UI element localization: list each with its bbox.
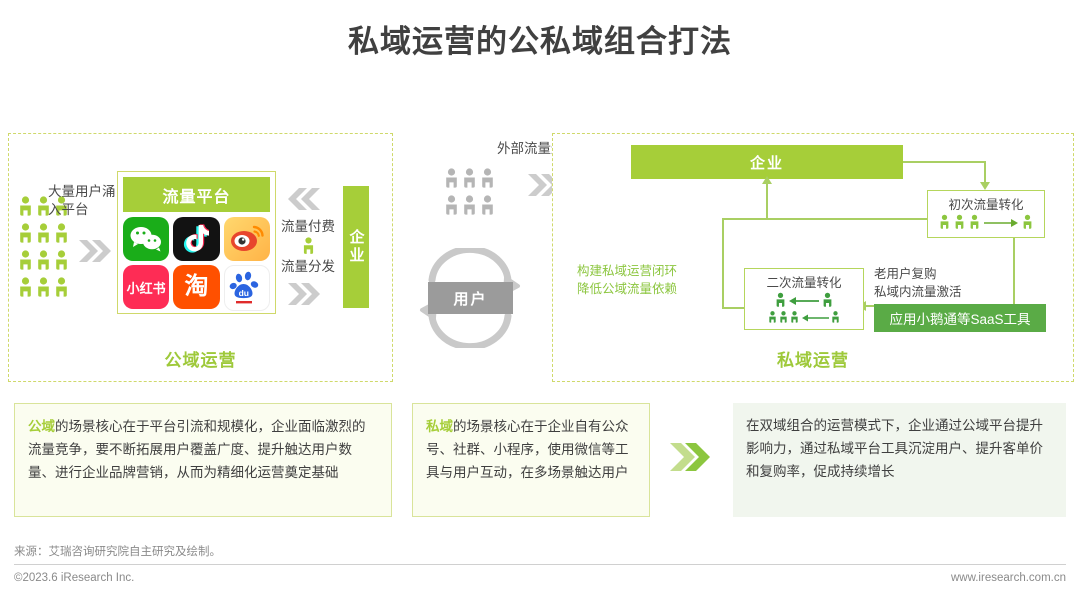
person-row <box>18 223 74 245</box>
traffic-platform-box: 流量平台 <box>117 171 276 314</box>
private-domain-description-box: 私域的场景核心在于企业自有公众号、社群、小程序，使用微信等工具与用户互动，在多场… <box>412 403 650 517</box>
person-icon <box>831 310 840 325</box>
website-link[interactable]: www.iresearch.com.cn <box>951 572 1066 584</box>
person-icon <box>18 223 33 245</box>
arrowhead-corp <box>762 176 772 184</box>
user-loop-diagram: 用户 <box>410 248 530 348</box>
xiaohongshu-label: 小红书 <box>127 278 166 297</box>
loop-note-line2: 降低公域流量依赖 <box>577 280 687 298</box>
loop-note: 构建私域运营闭环 降低公域流量依赖 <box>577 262 687 298</box>
connector-down-to-first <box>984 161 986 184</box>
person-icon <box>779 310 788 325</box>
connector-left-to-second <box>722 307 746 309</box>
person-icon <box>969 214 980 231</box>
private-domain-label: 私域运营 <box>553 346 1073 371</box>
person-row <box>444 195 498 217</box>
weibo-icon[interactable] <box>224 217 270 261</box>
connector-first-to-second <box>1013 238 1015 306</box>
public-domain-description: 的场景核心在于平台引流和规模化，企业面临激烈的流量竞争，要不断拓展用户覆盖广度、… <box>28 419 366 480</box>
person-icon <box>790 310 799 325</box>
pay-traffic-label: 流量付费 <box>277 218 339 236</box>
public-domain-description-box: 公域的场景核心在于平台引流和规模化，企业面临激烈的流量竞争，要不断拓展用户覆盖广… <box>14 403 392 517</box>
person-icon <box>36 223 51 245</box>
arrowhead-first-conv <box>980 182 990 190</box>
person-icon <box>54 277 69 299</box>
app-icon-grid: 小红书 淘 du <box>123 217 270 311</box>
connector-up-to-corp <box>766 182 768 218</box>
person-icon <box>768 310 777 325</box>
pay-arrow-icon <box>287 186 321 217</box>
person-icon <box>36 277 51 299</box>
public-domain-label: 公域运营 <box>9 346 392 371</box>
wechat-icon[interactable] <box>123 217 169 261</box>
first-conversion-title: 初次流量转化 <box>928 194 1044 213</box>
middle-users-group <box>444 168 498 222</box>
person-icon <box>1022 214 1033 231</box>
person-icon <box>444 195 459 217</box>
enterprise-label: 企业 <box>750 152 784 173</box>
person-icon <box>480 168 495 190</box>
combined-model-description: 在双域组合的运营模式下，企业通过公域平台提升影响力，通过私域平台工具沉淀用户、提… <box>746 418 1043 479</box>
person-icon <box>954 214 965 231</box>
footer-divider <box>14 564 1066 565</box>
second-conversion-box: 二次流量转化 <box>744 268 864 330</box>
person-row <box>18 277 74 299</box>
person-row <box>444 168 498 190</box>
second-conversion-title: 二次流量转化 <box>745 272 863 291</box>
person-icon <box>18 196 33 218</box>
infographic-page: 私域运营的公私域组合打法 公域运营 大量用户涌入平台 <box>0 0 1080 602</box>
person-icon <box>54 223 69 245</box>
person-icon <box>822 292 833 309</box>
public-domain-highlight: 公域 <box>28 419 55 434</box>
repeat-note-line2: 私域内流量激活 <box>874 283 982 301</box>
person-icon <box>480 195 495 217</box>
connector-first-left <box>722 218 928 220</box>
left-arrow-icon <box>789 296 819 306</box>
distribute-arrow-icon <box>287 281 321 312</box>
person-icon <box>18 277 33 299</box>
right-arrow-icon <box>984 218 1018 228</box>
page-title: 私域运营的公私域组合打法 <box>0 16 1080 61</box>
private-domain-description: 的场景核心在于企业自有公众号、社群、小程序，使用微信等工具与用户互动，在多场景触… <box>426 419 629 480</box>
saas-tool-button[interactable]: 应用小鹅通等SaaS工具 <box>874 304 1046 332</box>
inflow-arrow-icon <box>78 238 112 269</box>
traffic-platform-title: 流量平台 <box>123 177 270 212</box>
source-note: 来源：艾瑞咨询研究院自主研究及绘制。 <box>14 543 221 559</box>
douyin-icon[interactable] <box>173 217 219 261</box>
repeat-note-line1: 老用户复购 <box>874 265 982 283</box>
enterprise-bar-label: 企业 <box>346 229 367 265</box>
person-icon <box>939 214 950 231</box>
user-label: 用户 <box>453 288 487 309</box>
first-conversion-box: 初次流量转化 <box>927 190 1045 238</box>
person-icon <box>462 168 477 190</box>
saas-tool-label: 应用小鹅通等SaaS工具 <box>889 308 1030 328</box>
person-icon <box>444 168 459 190</box>
combined-model-description-box: 在双域组合的运营模式下，企业通过公域平台提升影响力，通过私域平台工具沉淀用户、提… <box>733 403 1066 517</box>
user-label-chip: 用户 <box>428 282 513 314</box>
distribute-traffic-label: 流量分发 <box>277 258 339 276</box>
taobao-label: 淘 <box>184 275 208 299</box>
person-icon <box>18 250 33 272</box>
enterprise-bar-private: 企业 <box>631 145 903 179</box>
left-arrow-icon <box>801 313 829 323</box>
person-icon <box>462 195 477 217</box>
loop-note-line1: 构建私域运营闭环 <box>577 262 687 280</box>
combination-arrow-icon <box>668 440 712 479</box>
repeat-purchase-note: 老用户复购 私域内流量激活 <box>874 265 982 301</box>
connector-left-vertical <box>722 218 724 308</box>
copyright-text: ©2023.6 iResearch Inc. <box>14 572 134 584</box>
person-icon <box>36 250 51 272</box>
person-icon <box>775 292 786 309</box>
person-icon <box>54 250 69 272</box>
inflow-label: 大量用户涌入平台 <box>48 183 120 219</box>
baidu-icon[interactable]: du <box>224 265 270 311</box>
connector-corp-to-first <box>903 161 985 163</box>
taobao-icon[interactable]: 淘 <box>173 265 219 309</box>
person-row <box>18 250 74 272</box>
svg-text:du: du <box>238 288 248 298</box>
enterprise-bar-public: 企业 <box>343 186 369 308</box>
xiaohongshu-icon[interactable]: 小红书 <box>123 265 169 309</box>
private-domain-highlight: 私域 <box>426 419 453 434</box>
